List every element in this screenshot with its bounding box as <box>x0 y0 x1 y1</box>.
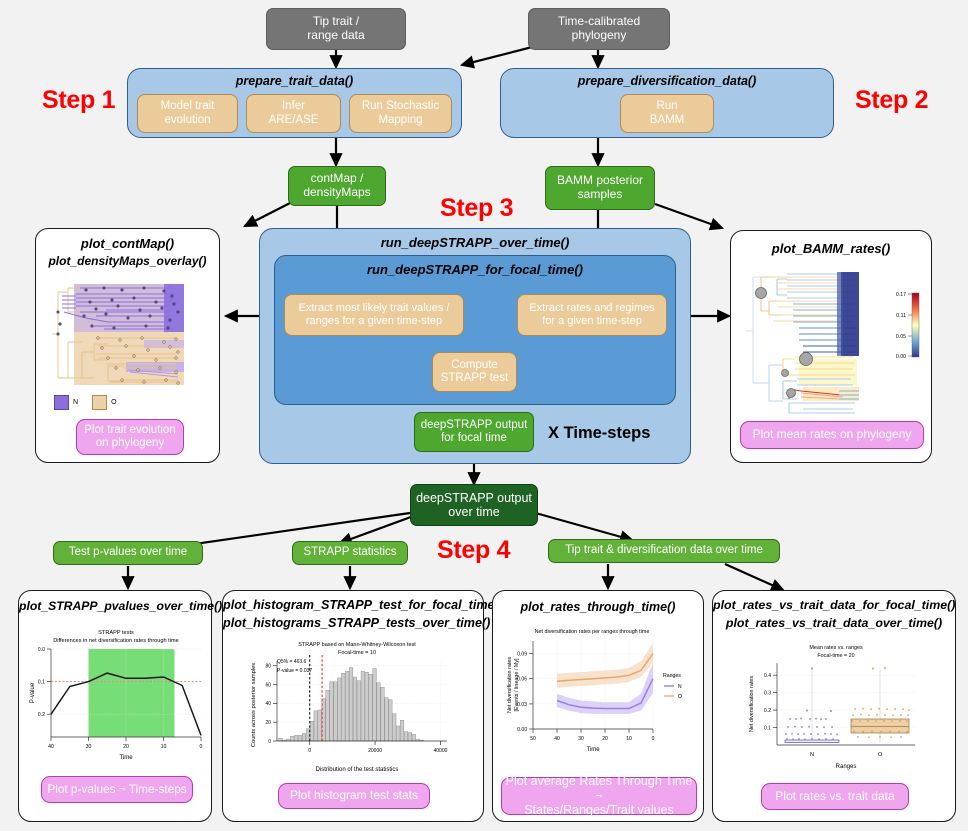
pvalues-xtick-1: 30 <box>86 744 92 750</box>
deepstrapp-output-focal-node[interactable]: deepSTRAPP output for focal time <box>414 412 534 452</box>
histogram-chart: STRAPP based on Mann-Whitney-Wilcoxon te… <box>247 637 462 777</box>
output-focal-l1: deepSTRAPP output <box>421 419 528 432</box>
pvalues-button-label: Plot p-values ~ Time-steps <box>47 783 186 797</box>
pvalues-xtick-3: 10 <box>161 744 167 750</box>
panel-contmap[interactable]: plot_contMap() plot_densityMaps_overlay(… <box>35 228 220 463</box>
pvalues-xtick-2: 20 <box>123 744 129 750</box>
compute-strapp-test-node[interactable]: Compute STRAPP test <box>432 352 517 392</box>
tip-trait-node[interactable]: Tip trait / range data <box>266 8 406 50</box>
step-1-label: Step 1 <box>42 86 115 115</box>
histogram-bar <box>337 678 341 741</box>
rates-time-chart-title: Net diversification rates per ranges thr… <box>535 629 650 635</box>
histogram-bar <box>373 669 377 741</box>
extract-trait-l1: Extract most likely trait values / <box>299 302 450 315</box>
phylogeny-node[interactable]: Time-calibrated phylogeny <box>528 8 670 50</box>
bamm-colorbar: 0.17 0.11 0.05 0.00 <box>886 291 928 361</box>
compute-l2: STRAPP test <box>441 372 509 385</box>
histogram-ytick: 40 <box>265 701 271 707</box>
compute-l1: Compute <box>451 359 498 372</box>
panel-rates-through-time[interactable]: plot_rates_through_time() Net diversific… <box>492 590 704 822</box>
contmap-action-button[interactable]: Plot trait evolution on phylogeny <box>76 419 184 455</box>
rates-time-xlabel: Time <box>586 747 600 753</box>
infer-l2: ARE/ASE <box>269 114 319 127</box>
rates-trait-ytick-3: 0.4 <box>764 673 771 679</box>
histogram-bar <box>290 736 294 741</box>
infer-are-ase-node[interactable]: Infer ARE/ASE <box>246 94 341 133</box>
test-pvalues-node[interactable]: Test p-values over time <box>53 541 203 565</box>
legend-swatch-o <box>92 395 107 410</box>
bamm-action-button[interactable]: Plot mean rates on phylogeny <box>740 421 924 449</box>
contmap-button-l2: on phylogeny <box>96 437 164 450</box>
rates-time-legend: Ranges N O <box>663 673 682 700</box>
rates-time-xtick-0: 50 <box>530 736 536 742</box>
histogram-bar <box>330 682 334 741</box>
step-4-label: Step 4 <box>437 536 510 565</box>
rates-trait-ytick-0: 0.1 <box>764 726 771 732</box>
panel-bamm-rates[interactable]: plot_BAMM_rates() <box>730 230 932 463</box>
histogram-bar <box>341 673 345 741</box>
histogram-ylabel: Counts across posterior samples <box>251 663 257 748</box>
prepare-diversification-data-box[interactable]: prepare_diversification_data() Run BAMM <box>500 68 834 138</box>
rates-time-ytick-0: 0.00 <box>517 727 527 733</box>
bamm-posterior-l1: BAMM posterior <box>557 174 643 188</box>
prepare-trait-data-box[interactable]: prepare_trait_data() Model trait evoluti… <box>127 68 462 138</box>
histogram-bar <box>361 671 365 741</box>
model-trait-l2: evolution <box>164 114 210 127</box>
infer-l1: Infer <box>282 100 305 113</box>
histogram-bar <box>294 735 298 741</box>
histogram-bar <box>326 690 330 741</box>
histogram-ytick: 80 <box>265 664 271 670</box>
histogram-xtick: 20000 <box>368 748 382 754</box>
histogram-bar <box>349 668 353 741</box>
rates-time-xtick-2: 30 <box>578 736 584 742</box>
panel-pvalues-title: plot_STRAPP_pvalues_over_time() <box>19 599 211 614</box>
bamm-button-label: Plot mean rates on phylogeny <box>753 428 912 442</box>
legend-label-n: N <box>73 399 78 406</box>
run-deepstrapp-over-time-label: run_deepSTRAPP_over_time() <box>260 235 690 250</box>
extract-rates-regimes-node[interactable]: Extract rates and regimes for a given ti… <box>517 294 667 336</box>
extract-trait-l2: ranges for a given time-step <box>306 315 442 328</box>
legend-label-o: O <box>111 399 116 406</box>
prepare-div-data-label: prepare_diversification_data() <box>501 74 833 88</box>
histogram-xtick: 40000 <box>434 748 448 754</box>
bamm-posterior-node[interactable]: BAMM posterior samples <box>545 166 655 210</box>
phylogeny-line1: Time-calibrated <box>558 15 640 29</box>
pvalues-ytick-2: 0.2 <box>38 712 45 718</box>
extract-rates-l1: Extract rates and regimes <box>529 302 654 315</box>
pvalues-xtick-0: 40 <box>48 744 54 750</box>
rates-time-xtick-4: 10 <box>626 736 632 742</box>
rates-trait-chart-title: Mean rates vs. ranges <box>809 645 863 651</box>
rates-time-ylabel-l2: [Events / lineage / My] <box>514 658 520 712</box>
pvalues-ytick-1: 0.1 <box>38 680 45 686</box>
rates-trait-button-label: Plot rates vs. trait data <box>775 790 894 804</box>
histogram-bar <box>412 734 416 741</box>
strapp-statistics-node[interactable]: STRAPP statistics <box>292 541 408 565</box>
extract-rates-l2: for a given time-step <box>542 315 642 328</box>
run-bamm-l2: BAMM <box>650 114 685 127</box>
rates-trait-ytick-1: 0.2 <box>764 708 771 714</box>
output-over-time-l2: over time <box>448 505 499 519</box>
colorbar-tick-1: 0.11 <box>896 313 906 319</box>
histogram-ytick: 0 <box>268 739 271 745</box>
rates-trait-box-n <box>785 740 839 742</box>
rates-time-legend-n: N <box>678 684 682 690</box>
pvalues-action-button[interactable]: Plot p-values ~ Time-steps <box>41 776 193 803</box>
time-steps-label: X Time-steps <box>548 424 650 443</box>
histogram-bar <box>377 683 381 741</box>
colorbar-tick-0: 0.17 <box>896 292 906 298</box>
histogram-bar <box>404 732 408 741</box>
histogram-bar <box>310 721 314 741</box>
histogram-annotation-2: P-value = 0.037 <box>277 668 312 674</box>
output-focal-l2: for focal time <box>441 432 507 445</box>
deepstrapp-output-over-time-node[interactable]: deepSTRAPP output over time <box>410 484 538 526</box>
panel-rates-vs-trait[interactable]: plot_rates_vs_trait_data_for_focal_time(… <box>712 590 956 822</box>
stochastic-l2: Mapping <box>378 114 422 127</box>
panel-histogram-title-1: plot_histogram_STRAPP_test_for_focal_tim… <box>223 598 483 614</box>
panel-histogram[interactable]: plot_histogram_STRAPP_test_for_focal_tim… <box>222 590 484 822</box>
pvalues-chart-subtitle: Differences in net diversification rates… <box>53 638 179 644</box>
pvalues-chart: STRAPP tests Differences in net diversif… <box>25 623 207 763</box>
histogram-bar <box>408 733 412 741</box>
model-trait-evolution-node[interactable]: Model trait evolution <box>137 94 238 133</box>
histogram-ytick: 60 <box>265 682 271 688</box>
rates-time-xtick-3: 20 <box>602 736 608 742</box>
run-bamm-l1: Run <box>656 100 677 113</box>
legend-swatch-n <box>54 395 69 410</box>
rates-time-legend-title: Ranges <box>663 673 681 679</box>
histogram-button-label: Plot histogram test stats <box>290 789 418 803</box>
strapp-statistics-label: STRAPP statistics <box>303 546 396 559</box>
panel-histogram-title-2: plot_histograms_STRAPP_tests_over_time() <box>223 616 483 632</box>
contmap-button-l1: Plot trait evolution <box>84 424 175 437</box>
histogram-bar <box>381 687 385 741</box>
histogram-bar <box>357 681 361 741</box>
pvalues-xlabel: Time <box>119 755 133 761</box>
contmap-legend: N O <box>54 395 117 410</box>
histogram-annotation-1: Q5% = 463.6 <box>277 659 307 665</box>
contmap-l1: contMap / <box>311 172 364 186</box>
pvalues-chart-title: STRAPP tests <box>98 630 134 636</box>
histogram-bar <box>388 700 392 741</box>
histogram-bar <box>365 672 369 741</box>
histogram-bar <box>353 677 357 741</box>
histogram-bar <box>392 714 396 741</box>
rates-trait-xtick-o: O <box>878 752 883 758</box>
prepare-trait-data-label: prepare_trait_data() <box>128 74 461 88</box>
run-stochastic-mapping-node[interactable]: Run Stochastic Mapping <box>349 94 452 133</box>
pvalues-xtick-4: 0 <box>200 744 203 750</box>
rates-trait-chart: Mean rates vs. ranges Focal-time = 20 <box>733 639 939 774</box>
step-3-label: Step 3 <box>440 194 513 223</box>
rates-trait-ytick-2: 0.3 <box>764 691 771 697</box>
bamm-rates-figure <box>743 271 883 416</box>
panel-contmap-title-1: plot_contMap() <box>36 236 219 252</box>
run-deepstrapp-focal-label: run_deepSTRAPP_for_focal_time() <box>275 262 675 277</box>
contmap-node[interactable]: contMap / densityMaps <box>288 166 386 206</box>
histogram-bar <box>345 671 349 741</box>
histogram-bar <box>369 674 373 741</box>
extract-trait-values-node[interactable]: Extract most likely trait values / range… <box>284 294 464 336</box>
panel-rates-trait-title-2: plot_rates_vs_trait_data_over_time() <box>713 616 955 632</box>
histogram-ytick: 20 <box>265 720 271 726</box>
colorbar-tick-3: 0.00 <box>896 354 906 360</box>
rates-trait-xtick-n: N <box>810 752 814 758</box>
histogram-bar <box>279 738 283 741</box>
panel-rates-trait-title-1: plot_rates_vs_trait_data_for_focal_time(… <box>713 598 955 614</box>
histogram-bar <box>302 733 306 741</box>
run-bamm-node[interactable]: Run BAMM <box>620 94 714 133</box>
contmap-l2: densityMaps <box>303 186 370 200</box>
rates-time-legend-o: O <box>678 694 682 700</box>
histogram-bar <box>385 698 389 741</box>
contmap-figure <box>46 282 211 387</box>
model-trait-l1: Model trait <box>161 100 215 113</box>
histogram-bar <box>400 720 404 741</box>
panel-pvalues[interactable]: plot_STRAPP_pvalues_over_time() STRAPP t… <box>18 590 212 822</box>
rates-trait-chart-subtitle: Focal-time = 20 <box>817 653 854 659</box>
histogram-bar <box>334 682 338 741</box>
panel-rates-time-title: plot_rates_through_time() <box>493 600 703 616</box>
tip-trait-line2: range data <box>307 29 364 43</box>
histogram-action-button[interactable]: Plot histogram test stats <box>278 783 430 809</box>
tip-trait-line1: Tip trait / <box>313 15 359 29</box>
stochastic-l1: Run Stochastic <box>362 100 439 113</box>
rates-time-xtick-5: 0 <box>652 736 655 742</box>
rates-trait-xlabel: Ranges <box>836 764 857 770</box>
rates-time-chart: Net diversification rates per ranges thr… <box>497 623 701 768</box>
rates-time-xtick-1: 40 <box>554 736 560 742</box>
rates-time-ylabel-l1: Net diversification rates <box>507 657 513 713</box>
rates-time-button-l1: Plot average Rates Through Time ~ <box>502 774 696 803</box>
histogram-bar <box>318 710 322 741</box>
phylogeny-line2: phylogeny <box>572 29 627 43</box>
bamm-posterior-l2: samples <box>578 188 623 202</box>
panel-bamm-title: plot_BAMM_rates() <box>731 241 931 257</box>
colorbar-tick-2: 0.05 <box>896 334 906 340</box>
histogram-xlabel: Distribution of the test statistics <box>316 767 399 773</box>
histogram-title: STRAPP based on Mann-Whitney-Wilcoxon te… <box>298 642 416 648</box>
pvalues-ylabel: P-value <box>30 682 36 703</box>
rates-trait-action-button[interactable]: Plot rates vs. trait data <box>761 783 909 810</box>
output-over-time-l1: deepSTRAPP output <box>416 491 532 505</box>
histogram-subtitle: Focal-time = 10 <box>338 650 376 656</box>
rates-trait-ylabel: Net diversification rates <box>749 676 755 732</box>
rates-time-button-l2: States/Ranges/Trait values <box>524 803 674 817</box>
tip-trait-div-data-node[interactable]: Tip trait & diversification data over ti… <box>548 539 780 563</box>
histogram-bar <box>298 735 302 741</box>
histogram-bar <box>314 711 318 741</box>
rates-time-ytick-3: 0.09 <box>517 652 527 658</box>
pvalues-ytick-0: 0.0 <box>38 647 45 653</box>
panel-contmap-title-2: plot_densityMaps_overlay() <box>36 254 219 269</box>
rates-time-action-button[interactable]: Plot average Rates Through Time ~ States… <box>501 777 697 815</box>
step-2-label: Step 2 <box>855 86 928 115</box>
histogram-xtick: 0 <box>308 748 311 754</box>
histogram-bar <box>396 726 400 741</box>
tip-trait-div-label: Tip trait & diversification data over ti… <box>565 544 763 557</box>
test-pvalues-label: Test p-values over time <box>69 546 187 559</box>
